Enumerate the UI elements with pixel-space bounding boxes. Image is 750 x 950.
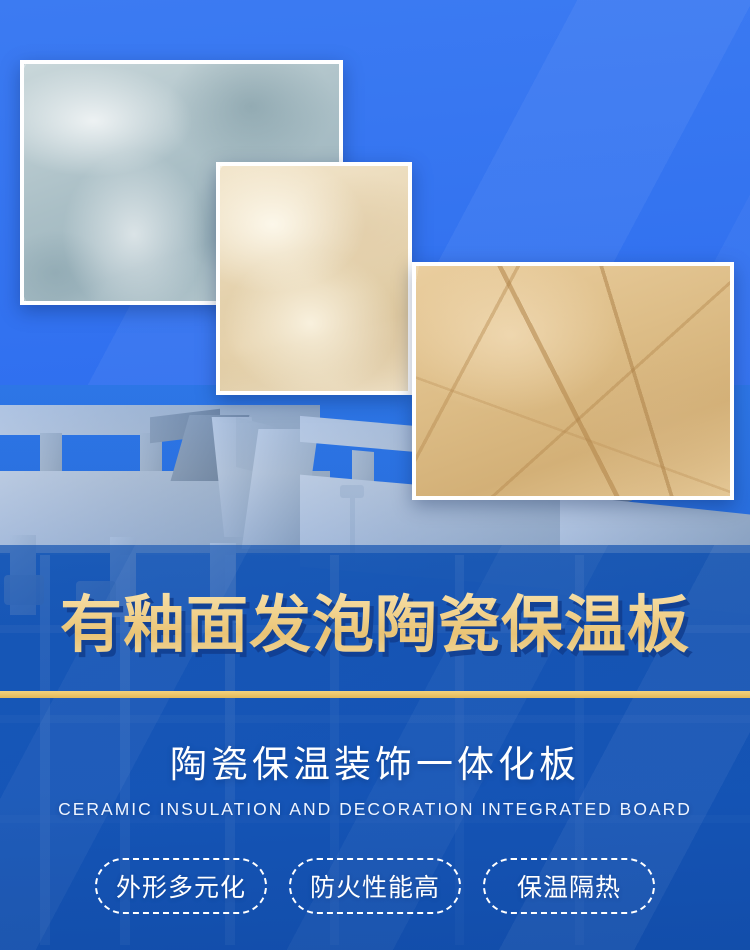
feature-badge-thermal-insulation[interactable]: 保温隔热 [483,858,655,914]
tile-texture-golden [416,266,730,496]
main-title: 有釉面发泡陶瓷保温板 [0,586,750,664]
subtitle-english: CERAMIC INSULATION AND DECORATION INTEGR… [0,798,750,820]
subtitle-chinese: 陶瓷保温装饰一体化板 [0,742,750,788]
feature-badge-shape-diversity[interactable]: 外形多元化 [95,858,267,914]
tile-texture-cream [220,166,408,391]
feature-badge-fire-resistance[interactable]: 防火性能高 [289,858,461,914]
feature-badge-list: 外形多元化 防火性能高 保温隔热 [0,858,750,914]
product-banner: 有釉面发泡陶瓷保温板 陶瓷保温装饰一体化板 CERAMIC INSULATION… [0,0,750,950]
gold-divider [0,691,750,698]
tile-sample-cream-travertine[interactable] [216,162,412,395]
tile-sample-golden-marble[interactable] [412,262,734,500]
